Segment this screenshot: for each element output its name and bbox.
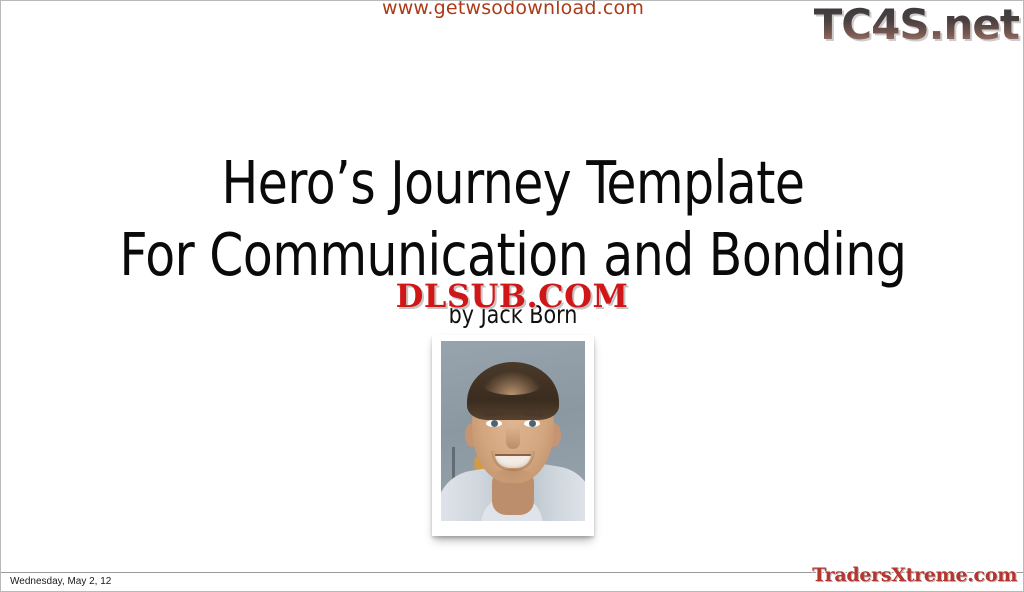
photo-pupil-right [529, 420, 536, 427]
author-byline: by Jack Born [42, 301, 984, 329]
photo-eye-left [486, 420, 502, 427]
title-line-1: Hero’s Journey Template [42, 147, 984, 219]
tc4s-logo: TC4S.net [814, 3, 1019, 47]
photo-nose [506, 427, 520, 449]
page-title: Hero’s Journey Template For Communicatio… [1, 147, 1024, 291]
photo-chin [493, 469, 533, 483]
tradersxtreme-logo: TradersXtreme.com [812, 564, 1017, 586]
photo-eye-right [524, 420, 540, 427]
author-photo-frame [432, 335, 594, 536]
photo-pupil-left [491, 420, 498, 427]
photo-hairline [481, 371, 543, 395]
footer-date: Wednesday, May 2, 12 [10, 575, 111, 589]
title-line-2: For Communication and Bonding [42, 219, 984, 291]
presentation-slide: www.getwsodownload.com TC4S.net TC4S.net… [0, 0, 1024, 592]
avatar [441, 341, 585, 521]
